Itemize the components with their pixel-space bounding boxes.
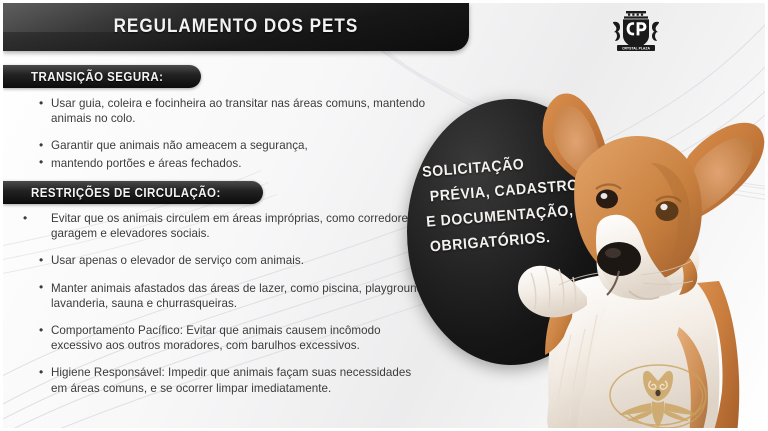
section-header-label: TRANSIÇÃO SEGURA: [31, 70, 163, 84]
list-item: Manter animais afastados das áreas de la… [37, 281, 427, 311]
list-item: Usar apenas o elevador de serviço com an… [37, 253, 427, 268]
callout-text: SOLICITAÇÃO PRÉVIA, CADASTRO E DOCUMENTA… [407, 145, 615, 261]
callout-circle: SOLICITAÇÃO PRÉVIA, CADASTRO E DOCUMENTA… [407, 99, 615, 365]
list-item: Comportamento Pacífico: Evitar que anima… [37, 323, 427, 353]
page-title: REGULAMENTO DOS PETS [114, 16, 359, 38]
list-item: Garantir que animais não ameacem a segur… [37, 138, 427, 153]
bullet-list-transicao-segura: Usar guia, coleira e focinheira ao trans… [37, 96, 427, 183]
crest-banner-text: CRYSTAL PLAZA [622, 47, 650, 51]
list-item: Evitar que os animais circulem em áreas … [21, 211, 427, 241]
list-item: Higiene Responsável: Impedir que animais… [37, 365, 427, 395]
cp-crest-logo: CRYSTAL PLAZA [603, 9, 669, 53]
section-header-transicao-segura: TRANSIÇÃO SEGURA: [3, 65, 201, 88]
list-item: Usar guia, coleira e focinheira ao trans… [37, 96, 427, 126]
section-header-restricoes-de-circulacao: RESTRIÇÕES DE CIRCULAÇÃO: [3, 181, 263, 204]
bullet-list-restricoes: Evitar que os animais circulem em áreas … [37, 211, 427, 408]
slide-title-banner: REGULAMENTO DOS PETS [3, 3, 469, 51]
pet-rules-slide: REGULAMENTO DOS PETS CRYSTAL PLAZA [0, 0, 768, 431]
list-item: mantendo portões e áreas fechados. [37, 156, 427, 171]
section-header-label: RESTRIÇÕES DE CIRCULAÇÃO: [31, 186, 221, 200]
owl-watermark [599, 355, 717, 431]
